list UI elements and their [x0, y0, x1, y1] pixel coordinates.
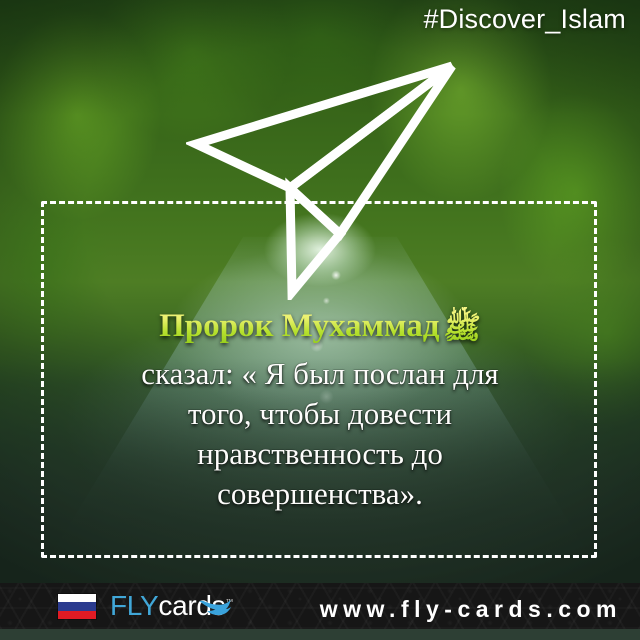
website-url[interactable]: www.fly-cards.com: [0, 596, 622, 623]
quote-attribution: Пророк Мухаммадﷺ: [60, 307, 580, 347]
quote-line: нравственность до: [60, 434, 580, 474]
quote-line: сказал: « Я был послан для: [60, 354, 580, 394]
quote-block: Пророк Мухаммадﷺ сказал: « Я был послан …: [60, 307, 580, 515]
fly-cards-quote-card: #Discover_Islam Пророк Мухаммадﷺ сказал:…: [0, 0, 640, 640]
hashtag-label: #Discover_Islam: [423, 4, 626, 35]
quote-line: совершенства».: [60, 474, 580, 514]
salawat-glyph: ﷺ: [443, 310, 480, 345]
quote-attribution-text: Пророк Мухаммад: [159, 308, 439, 344]
quote-text: сказал: « Я был послан для того, чтобы д…: [60, 354, 580, 515]
quote-line: того, чтобы довести: [60, 394, 580, 434]
